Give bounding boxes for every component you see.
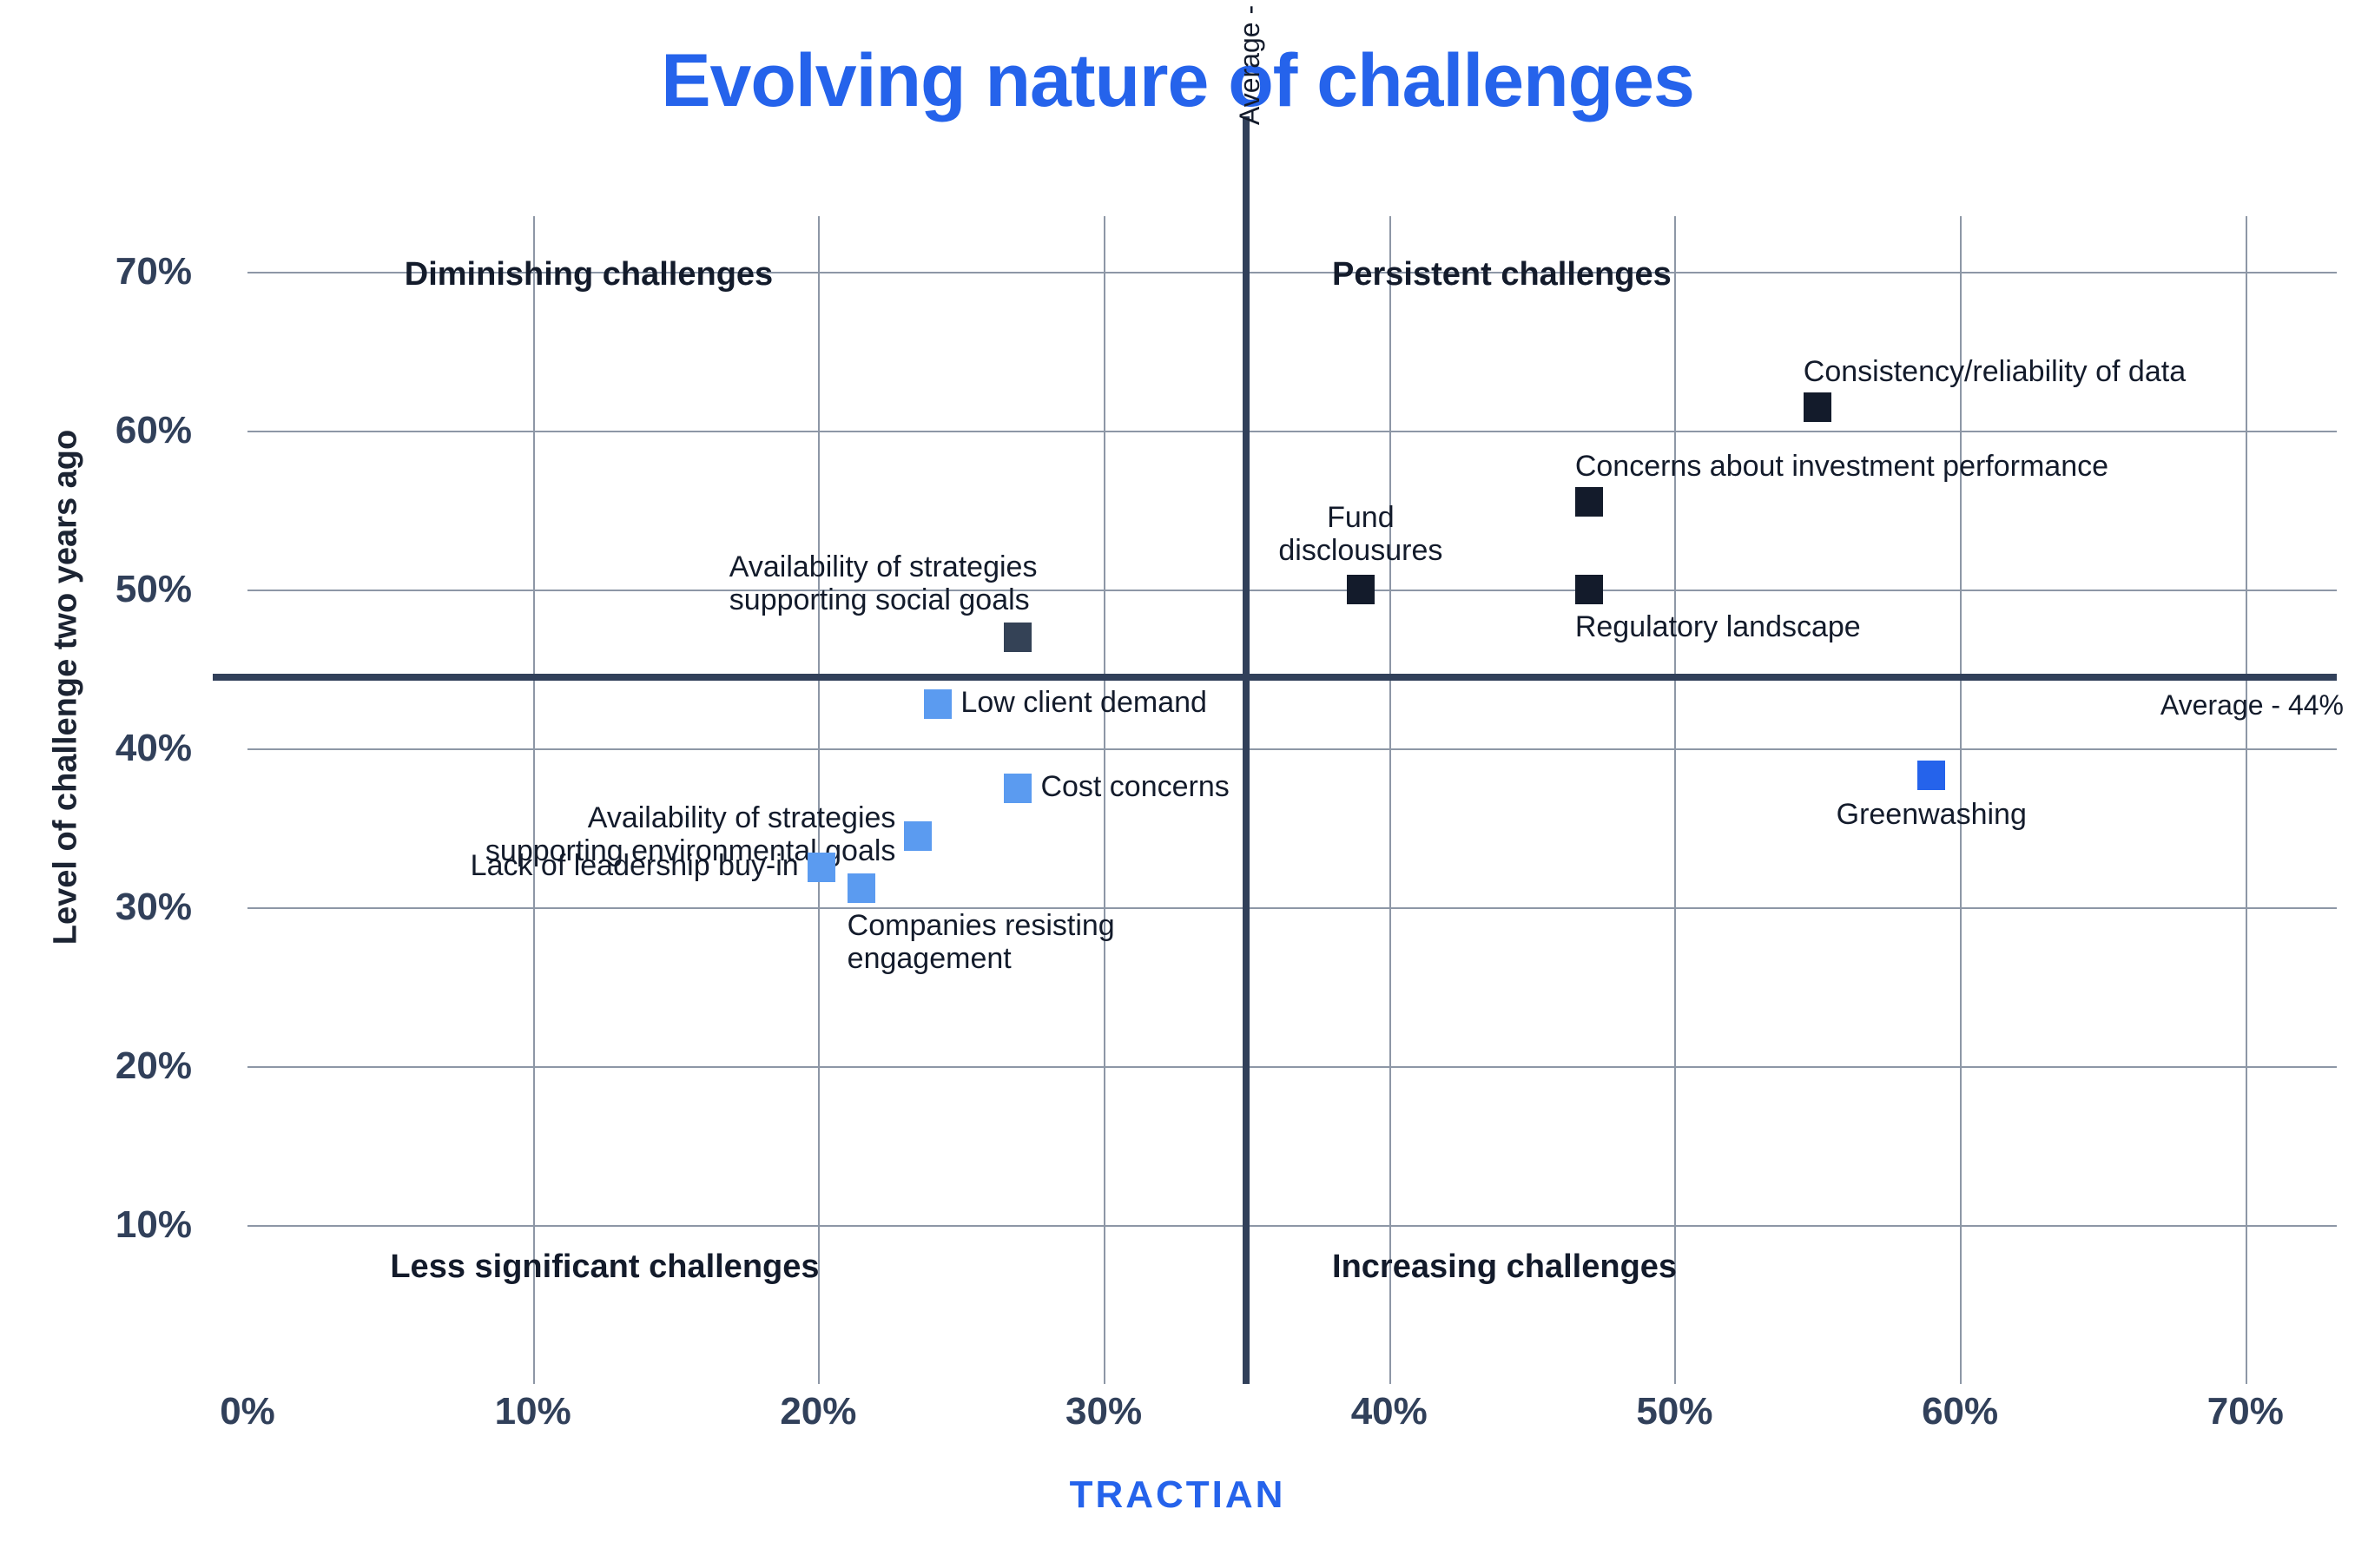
- data-point-marker[interactable]: [1347, 575, 1375, 604]
- x-axis-tick-label: 60%: [1864, 1390, 2055, 1433]
- gridline-horizontal: [247, 590, 2337, 591]
- data-point-marker[interactable]: [1004, 623, 1032, 652]
- data-point-marker[interactable]: [1004, 774, 1032, 803]
- y-axis-tick-label: 60%: [0, 409, 192, 452]
- y-axis-tick-label: 40%: [0, 727, 192, 770]
- quadrant-label-persistent: Persistent challenges: [1332, 256, 1672, 293]
- gridline-vertical: [1389, 216, 1391, 1384]
- x-axis-tick-label: 50%: [1579, 1390, 1770, 1433]
- y-axis-tick-label: 70%: [0, 250, 192, 293]
- data-point-marker[interactable]: [1575, 575, 1603, 604]
- x-axis-tick-label: 0%: [152, 1390, 343, 1433]
- average-horizontal-label: Average - 44%: [2160, 689, 2344, 721]
- data-point-marker[interactable]: [848, 873, 875, 903]
- data-point-marker[interactable]: [904, 821, 932, 851]
- data-point-label: Availability of strategies supporting so…: [729, 550, 1038, 616]
- data-point-label: Fund disclousures: [1239, 501, 1482, 567]
- x-axis-tick-label: 20%: [722, 1390, 914, 1433]
- y-axis-tick-label: 10%: [0, 1203, 192, 1247]
- y-axis-tick-label: 50%: [0, 568, 192, 611]
- x-axis-tick-label: 30%: [1008, 1390, 1199, 1433]
- tractian-logo: TRACTIAN: [0, 1473, 2355, 1517]
- gridline-horizontal: [247, 907, 2337, 909]
- quadrant-label-increasing: Increasing challenges: [1332, 1248, 1677, 1286]
- data-point-marker[interactable]: [808, 853, 835, 882]
- gridline-vertical: [818, 216, 820, 1384]
- data-point-marker[interactable]: [1917, 761, 1945, 790]
- data-point-marker[interactable]: [1804, 392, 1831, 422]
- average-line-vertical: [1243, 116, 1250, 1384]
- gridline-horizontal: [247, 1225, 2337, 1227]
- average-line-horizontal: [213, 674, 2337, 681]
- data-point-label: Lack of leadership buy-in: [471, 849, 799, 882]
- average-vertical-label: Average - 36%: [1234, 0, 1266, 125]
- data-point-label: Greenwashing: [1810, 798, 2053, 831]
- y-axis-tick-label: 20%: [0, 1044, 192, 1088]
- chart-root: Evolving nature of challenges Level of c…: [0, 0, 2355, 1568]
- data-point-label: Cost concerns: [1040, 770, 1229, 803]
- plot-area: 10%20%30%40%50%60%70%0%10%20%30%40%50%60…: [247, 216, 2337, 1384]
- data-point-label: Regulatory landscape: [1575, 610, 1861, 643]
- x-axis-tick-label: 10%: [438, 1390, 629, 1433]
- page-title: Evolving nature of challenges: [0, 38, 2355, 124]
- data-point-label: Concerns about investment performance: [1575, 450, 2108, 483]
- quadrant-label-less-significant: Less significant challenges: [390, 1248, 819, 1286]
- data-point-marker[interactable]: [924, 689, 952, 719]
- y-axis-tick-label: 30%: [0, 886, 192, 929]
- gridline-vertical: [2246, 216, 2247, 1384]
- gridline-vertical: [1674, 216, 1676, 1384]
- gridline-horizontal: [247, 1066, 2337, 1068]
- x-axis-tick-label: 70%: [2150, 1390, 2341, 1433]
- gridline-horizontal: [247, 748, 2337, 750]
- data-point-label: Consistency/reliability of data: [1804, 355, 2186, 388]
- gridline-horizontal: [247, 431, 2337, 432]
- x-axis-tick-label: 40%: [1294, 1390, 1485, 1433]
- data-point-label: Companies resisting engagement: [848, 909, 1115, 975]
- data-point-label: Low client demand: [960, 686, 1207, 719]
- data-point-marker[interactable]: [1575, 487, 1603, 517]
- quadrant-label-diminishing: Diminishing challenges: [405, 256, 773, 293]
- gridline-vertical: [533, 216, 535, 1384]
